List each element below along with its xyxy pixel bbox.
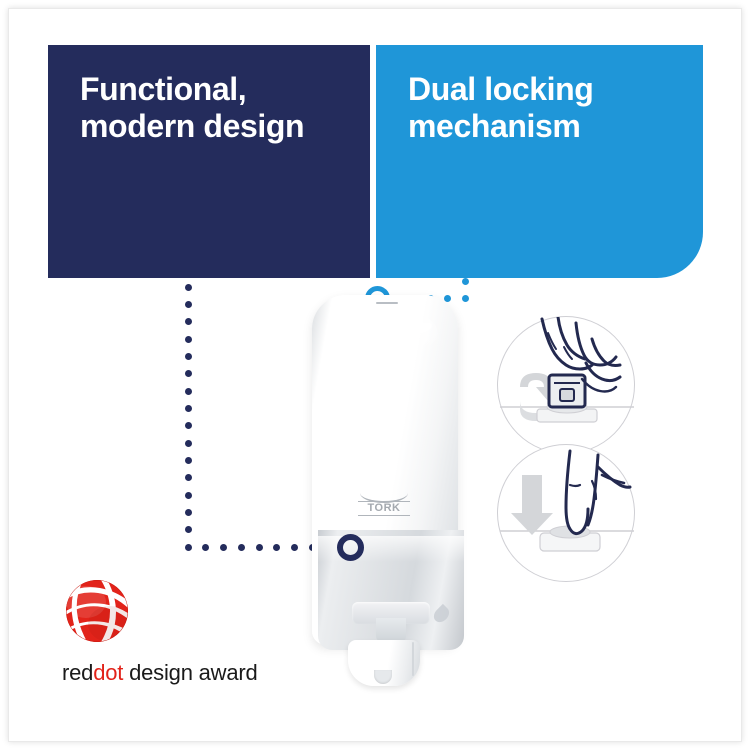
finger-pressing-icon bbox=[498, 445, 636, 583]
panel-dual-locking: Dual locking mechanism bbox=[376, 45, 703, 278]
panel-functional-design: Functional, modern design bbox=[48, 45, 370, 278]
connector-dot-navy bbox=[185, 318, 192, 325]
dispenser-pump-stem bbox=[376, 618, 406, 642]
connector-dot-navy bbox=[185, 336, 192, 343]
instruction-turn-key bbox=[497, 316, 635, 454]
reddot-design-award: reddot design award bbox=[62, 578, 272, 690]
product-image-canvas: Functional, modern design Dual locking m… bbox=[0, 0, 750, 750]
connector-dot-navy bbox=[185, 388, 192, 395]
connector-dot-navy bbox=[185, 492, 192, 499]
connector-dot-navy bbox=[185, 422, 192, 429]
connector-dot-blue bbox=[462, 295, 469, 302]
reddot-award-text: reddot design award bbox=[62, 660, 258, 686]
connector-dot-navy bbox=[220, 544, 227, 551]
connector-dot-navy bbox=[202, 544, 209, 551]
reddot-sphere-logo bbox=[64, 578, 130, 644]
callout-ring-push-button bbox=[337, 534, 364, 561]
connector-dot-navy bbox=[185, 526, 192, 533]
connector-dot-navy bbox=[185, 474, 192, 481]
tork-brand-logo: TORK bbox=[358, 493, 410, 519]
panel-dual-locking-title: Dual locking mechanism bbox=[408, 71, 679, 145]
connector-dot-navy bbox=[185, 509, 192, 516]
nozzle-edge bbox=[412, 642, 414, 676]
dispenser-top-seam bbox=[376, 302, 398, 304]
connector-dot-navy bbox=[273, 544, 280, 551]
connector-dot-navy bbox=[238, 544, 245, 551]
connector-dot-navy bbox=[185, 301, 192, 308]
connector-dot-navy bbox=[185, 457, 192, 464]
dispenser-nozzle bbox=[348, 640, 420, 686]
hand-turning-key-icon bbox=[498, 317, 636, 455]
dispenser-body: TORK bbox=[312, 295, 458, 645]
dispenser-gloss-highlight bbox=[334, 309, 438, 359]
connector-dot-navy bbox=[185, 284, 192, 291]
panel-functional-design-title: Functional, modern design bbox=[80, 71, 346, 145]
connector-dot-navy bbox=[256, 544, 263, 551]
reddot-text-red: red bbox=[62, 660, 93, 685]
soap-droplet-icon bbox=[431, 604, 452, 625]
connector-dot-blue bbox=[462, 278, 469, 285]
connector-dot-navy bbox=[185, 353, 192, 360]
soap-dispenser: TORK bbox=[306, 290, 462, 690]
connector-dot-navy bbox=[185, 440, 192, 447]
connector-dot-navy bbox=[185, 405, 192, 412]
reddot-text-design-award: design award bbox=[123, 660, 257, 685]
instruction-press-down bbox=[497, 444, 635, 582]
connector-dot-navy bbox=[291, 544, 298, 551]
reddot-text-dot: dot bbox=[93, 660, 123, 685]
nozzle-outlet bbox=[374, 670, 392, 684]
connector-dot-navy bbox=[185, 544, 192, 551]
tork-wordmark: TORK bbox=[358, 501, 410, 516]
connector-dot-navy bbox=[185, 370, 192, 377]
